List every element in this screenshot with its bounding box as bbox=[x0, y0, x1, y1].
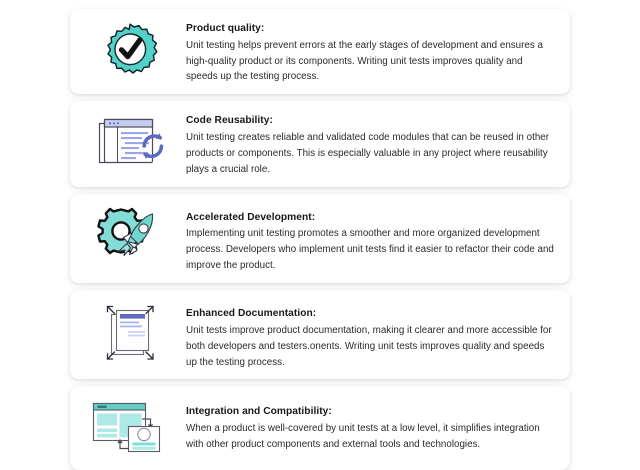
benefit-card-description: Unit testing helps prevent errors at the… bbox=[186, 38, 556, 86]
quality-badge-check-icon bbox=[82, 18, 178, 84]
code-window-refresh-icon bbox=[82, 110, 178, 176]
benefit-card-accelerated-development[interactable]: Accelerated Development: Implementing un… bbox=[70, 194, 570, 283]
benefit-card-product-quality[interactable]: Product quality: Unit testing helps prev… bbox=[70, 9, 570, 94]
benefit-card-code-reusability[interactable]: Code Reusability: Unit testing creates r… bbox=[70, 101, 570, 186]
benefit-card-text: Code Reusability: Unit testing creates r… bbox=[178, 110, 556, 177]
browser-integration-icon bbox=[82, 395, 178, 461]
benefit-card-description: When a product is well-covered by unit t… bbox=[186, 421, 556, 453]
document-expand-icon bbox=[82, 299, 178, 365]
benefit-card-text: Product quality: Unit testing helps prev… bbox=[178, 18, 556, 85]
benefit-card-title: Accelerated Development: bbox=[186, 211, 556, 225]
benefit-card-title: Product quality: bbox=[186, 22, 556, 36]
benefit-card-integration-compatibility[interactable]: Integration and Compatibility: When a pr… bbox=[70, 386, 570, 470]
benefit-card-text: Integration and Compatibility: When a pr… bbox=[178, 395, 556, 452]
benefits-list-page: Product quality: Unit testing helps prev… bbox=[0, 0, 640, 436]
benefit-card-description: Implementing unit testing promotes a smo… bbox=[186, 226, 556, 274]
benefit-card-text: Enhanced Documentation: Unit tests impro… bbox=[178, 299, 556, 370]
benefit-cards-container: Product quality: Unit testing helps prev… bbox=[70, 9, 570, 470]
benefit-card-enhanced-documentation[interactable]: Enhanced Documentation: Unit tests impro… bbox=[70, 290, 570, 379]
benefit-card-description: Unit tests improve product documentation… bbox=[186, 323, 556, 371]
benefit-card-title: Enhanced Documentation: bbox=[186, 307, 556, 321]
benefit-card-text: Accelerated Development: Implementing un… bbox=[178, 203, 556, 274]
benefit-card-title: Code Reusability: bbox=[186, 114, 556, 128]
gear-rocket-icon bbox=[82, 203, 178, 269]
benefit-card-title: Integration and Compatibility: bbox=[186, 405, 556, 419]
benefit-card-description: Unit testing creates reliable and valida… bbox=[186, 130, 556, 178]
